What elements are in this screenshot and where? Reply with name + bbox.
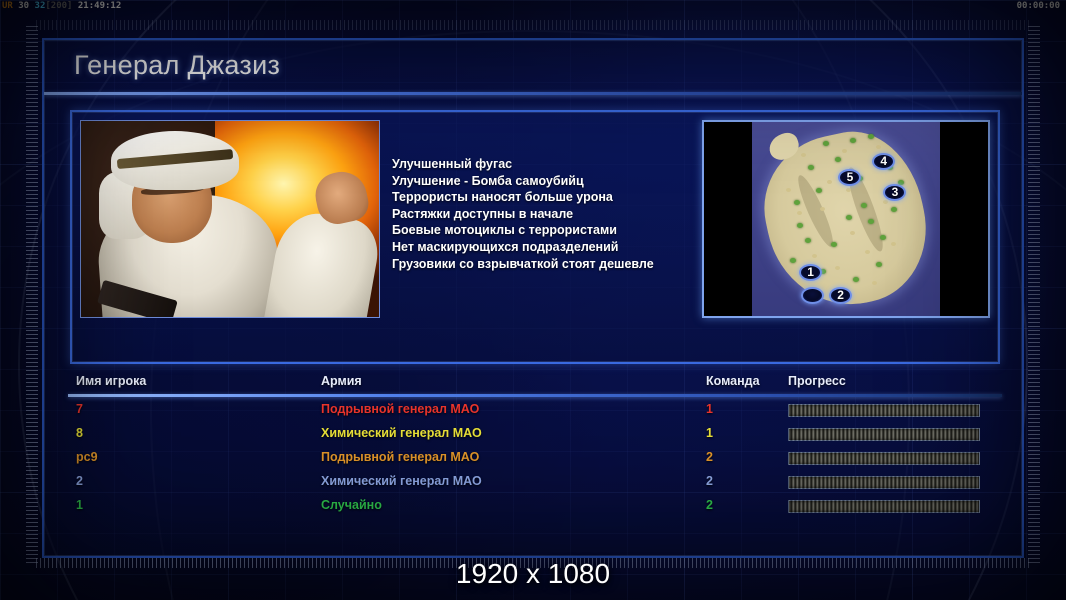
ruler-right bbox=[1028, 26, 1040, 566]
minimap-start-marker[interactable]: 1 bbox=[799, 264, 822, 281]
game-screen: UR 30 32[200] 21:49:12 00:00:00 Генерал … bbox=[0, 0, 1066, 600]
minimap-vegetation bbox=[876, 262, 882, 267]
description-line: Растяжки доступны в начале bbox=[392, 206, 722, 223]
minimap-terrain-detail bbox=[865, 250, 870, 254]
minimap-terrain-detail bbox=[786, 188, 791, 192]
status-time-left: 21:49:12 bbox=[78, 1, 121, 11]
column-header-army: Армия bbox=[321, 374, 362, 388]
cell-army: Подрывной генерал МАО bbox=[321, 402, 479, 416]
description-line: Террористы наносят больше урона bbox=[392, 189, 722, 206]
minimap-terrain-detail bbox=[850, 231, 855, 235]
minimap-vegetation bbox=[850, 138, 856, 143]
cell-player-name: 8 bbox=[76, 426, 83, 440]
cell-team: 2 bbox=[706, 450, 713, 464]
minimap-vegetation bbox=[835, 157, 841, 162]
minimap-vegetation bbox=[816, 188, 822, 193]
minimap-terrain-detail bbox=[835, 266, 840, 270]
cell-player-name: pc9 bbox=[76, 450, 98, 464]
title-divider bbox=[44, 92, 1022, 95]
cell-army: Подрывной генерал МАО bbox=[321, 450, 479, 464]
table-header-row: Имя игрока Армия Команда Прогресс bbox=[70, 374, 1000, 393]
table-row[interactable]: 2Химический генерал МАО2 bbox=[70, 472, 1000, 496]
table-row[interactable]: pc9Подрывной генерал МАО2 bbox=[70, 448, 1000, 472]
table-divider bbox=[68, 394, 1002, 397]
minimap-start-marker[interactable] bbox=[801, 287, 824, 304]
cell-progress-bar bbox=[788, 476, 980, 489]
resolution-overlay: 1920 x 1080 bbox=[0, 558, 1066, 590]
cell-progress-bar bbox=[788, 500, 980, 513]
table-row[interactable]: 1Случайно2 bbox=[70, 496, 1000, 520]
status-time-right: 00:00:00 bbox=[1017, 0, 1060, 13]
ruler-top bbox=[36, 20, 1030, 30]
cell-army: Химический генерал МАО bbox=[321, 426, 482, 440]
cell-army: Случайно bbox=[321, 498, 382, 512]
table-row[interactable]: 7Подрывной генерал МАО1 bbox=[70, 400, 1000, 424]
ruler-left bbox=[26, 26, 38, 566]
description-line: Боевые мотоциклы с террористами bbox=[392, 222, 722, 239]
player-table: Имя игрока Армия Команда Прогресс 7Подры… bbox=[70, 374, 1000, 538]
general-info-box: Улучшенный фугас Улучшение - Бомба самоу… bbox=[70, 110, 1000, 364]
cell-army: Химический генерал МАО bbox=[321, 474, 482, 488]
cell-progress-bar bbox=[788, 428, 980, 441]
description-line: Улучшенный фугас bbox=[392, 156, 722, 173]
cell-progress-bar bbox=[788, 404, 980, 417]
description-line: Улучшение - Бомба самоубийц bbox=[392, 173, 722, 190]
cell-player-name: 1 bbox=[76, 498, 83, 512]
cell-progress-bar bbox=[788, 452, 980, 465]
cell-player-name: 7 bbox=[76, 402, 83, 416]
minimap-water: 54312 bbox=[752, 122, 939, 316]
column-header-progress: Прогресс bbox=[788, 374, 846, 388]
status-left: UR 30 32[200] 21:49:12 bbox=[2, 0, 121, 13]
column-header-name: Имя игрока bbox=[76, 374, 146, 388]
status-tag: UR bbox=[2, 1, 13, 11]
status-num2: 32 bbox=[35, 1, 46, 11]
status-bar: UR 30 32[200] 21:49:12 00:00:00 bbox=[0, 0, 1066, 13]
minimap[interactable]: 54312 bbox=[702, 120, 990, 318]
general-portrait bbox=[80, 120, 380, 318]
cell-player-name: 2 bbox=[76, 474, 83, 488]
description-line: Грузовики со взрывчаткой стоят дешевле bbox=[392, 256, 722, 273]
description-line: Нет маскирующихся подразделений bbox=[392, 239, 722, 256]
minimap-terrain-detail bbox=[846, 188, 851, 192]
minimap-terrain-detail bbox=[801, 153, 806, 157]
table-body: 7Подрывной генерал МАО18Химический генер… bbox=[70, 400, 1000, 520]
cell-team: 1 bbox=[706, 426, 713, 440]
minimap-vegetation bbox=[880, 235, 886, 240]
main-panel: Генерал Джазиз Улучшенный фугас Улучшени… bbox=[42, 38, 1024, 558]
status-num1: 30 bbox=[18, 1, 29, 11]
page-title: Генерал Джазиз bbox=[74, 50, 280, 81]
status-bracket: [200] bbox=[45, 1, 72, 11]
table-row[interactable]: 8Химический генерал МАО1 bbox=[70, 424, 1000, 448]
minimap-vegetation bbox=[790, 258, 796, 263]
cell-team: 1 bbox=[706, 402, 713, 416]
cell-team: 2 bbox=[706, 498, 713, 512]
column-header-team: Команда bbox=[706, 374, 760, 388]
minimap-start-marker[interactable]: 2 bbox=[829, 287, 852, 304]
general-description: Улучшенный фугас Улучшение - Бомба самоу… bbox=[392, 156, 722, 272]
minimap-start-marker[interactable]: 5 bbox=[838, 169, 861, 186]
minimap-vegetation bbox=[794, 200, 800, 205]
cell-team: 2 bbox=[706, 474, 713, 488]
